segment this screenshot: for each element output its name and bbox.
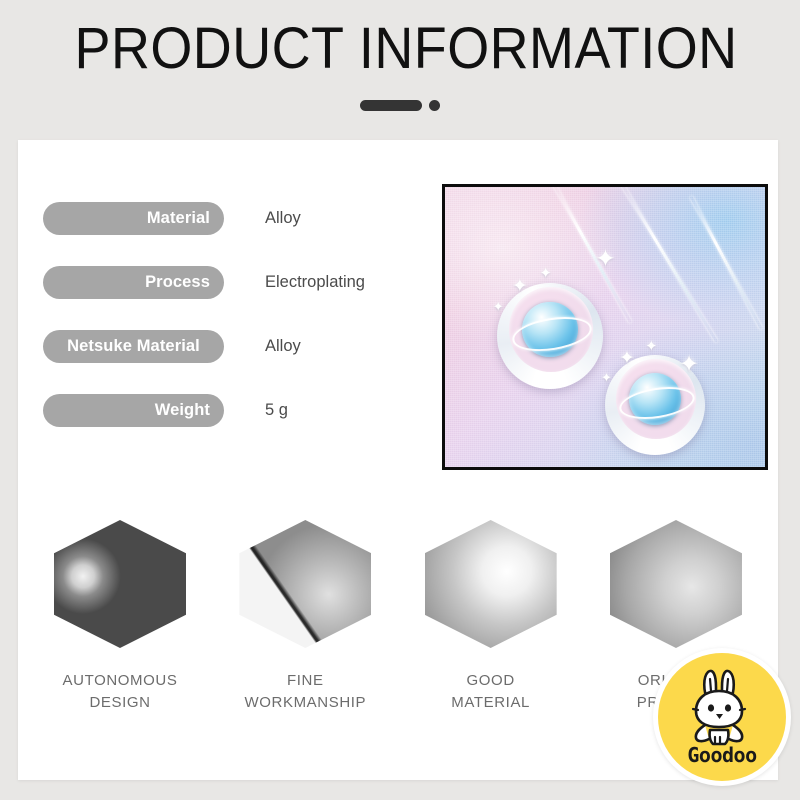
feature-item-autonomous-design: AUTONOMOUS DESIGN <box>40 520 200 714</box>
spec-value-text: Alloy <box>265 209 301 228</box>
pendant-moon-planet: ✦ ✦ ✦ <box>497 283 603 389</box>
spec-row-material: Material Alloy <box>43 202 443 235</box>
feature-caption: GOOD MATERIAL <box>451 670 530 714</box>
star-charm-icon: ✦ <box>679 353 699 377</box>
star-accent-icon: ✦ <box>493 300 504 313</box>
feature-caption: AUTONOMOUS DESIGN <box>63 670 178 714</box>
brand-logo-badge: Goodoo <box>653 648 791 786</box>
feature-photo-hexagon <box>425 520 557 648</box>
star-charm-icon: ✦ <box>595 247 616 272</box>
spec-label-pill: Weight <box>43 394 224 427</box>
brand-logo-disc: Goodoo <box>658 653 786 781</box>
star-accent-icon: ✦ <box>539 266 552 281</box>
divider-dot-icon <box>429 100 440 111</box>
spec-value-text: Alloy <box>265 337 301 356</box>
feature-item-fine-workmanship: FINE WORKMANSHIP <box>225 520 385 714</box>
feature-item-good-material: GOOD MATERIAL <box>411 520 571 714</box>
spec-label-pill: Material <box>43 202 224 235</box>
feature-caption: FINE WORKMANSHIP <box>245 670 367 714</box>
spec-label-pill: Netsuke Material <box>43 330 224 363</box>
feature-photo-hexagon <box>610 520 742 648</box>
spec-value-text: Electroplating <box>265 273 365 292</box>
title-divider <box>0 98 800 112</box>
star-accent-icon: ✦ <box>601 371 612 384</box>
spec-row-weight: Weight 5 g <box>43 394 443 427</box>
spec-list: Material Alloy Process Electroplating Ne… <box>43 202 443 458</box>
spec-value-text: 5 g <box>265 401 288 420</box>
product-photo: ✦ ✦ ✦ ✦ ✦ ✦ ✦ ✦ <box>442 184 768 470</box>
divider-bar-icon <box>360 100 422 111</box>
page-header: PRODUCT INFORMATION <box>0 0 800 140</box>
feature-list: AUTONOMOUS DESIGN FINE WORKMANSHIP GOOD … <box>40 520 756 714</box>
feature-photo-hexagon <box>239 520 371 648</box>
spec-label-text: Material <box>147 209 210 228</box>
spec-row-netsuke-material: Netsuke Material Alloy <box>43 330 443 363</box>
bunny-mascot-icon <box>683 667 761 751</box>
star-accent-icon: ✦ <box>645 339 658 354</box>
spec-label-text: Process <box>145 273 210 292</box>
feature-photo-hexagon <box>54 520 186 648</box>
spec-label-text: Netsuke Material <box>67 337 200 356</box>
spec-label-pill: Process <box>43 266 224 299</box>
star-accent-icon: ✦ <box>619 349 635 368</box>
spec-label-text: Weight <box>155 401 210 420</box>
brand-name-text: Goodoo <box>658 743 786 767</box>
page-title: PRODUCT INFORMATION <box>75 16 726 82</box>
spec-row-process: Process Electroplating <box>43 266 443 299</box>
star-accent-icon: ✦ <box>512 277 528 296</box>
